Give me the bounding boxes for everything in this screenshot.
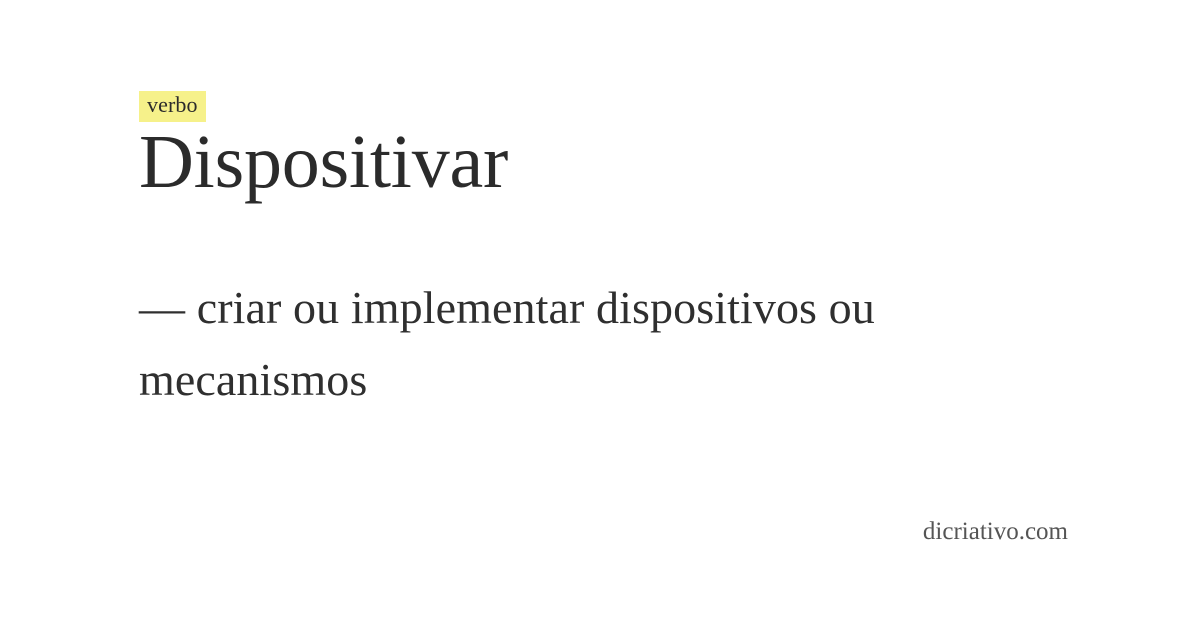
status-badge: verbo	[139, 91, 206, 122]
definition-text: — criar ou implementar dispositivos ou m…	[139, 272, 939, 416]
definition-body: criar ou implementar dispositivos ou mec…	[139, 282, 875, 405]
source-attribution: dicriativo.com	[923, 517, 1068, 547]
definition-card: verbo Dispositivar — criar ou implementa…	[0, 0, 1200, 620]
part-of-speech-row: verbo	[139, 91, 206, 122]
definition-dash: —	[139, 282, 197, 333]
page-title: Dispositivar	[139, 122, 508, 203]
